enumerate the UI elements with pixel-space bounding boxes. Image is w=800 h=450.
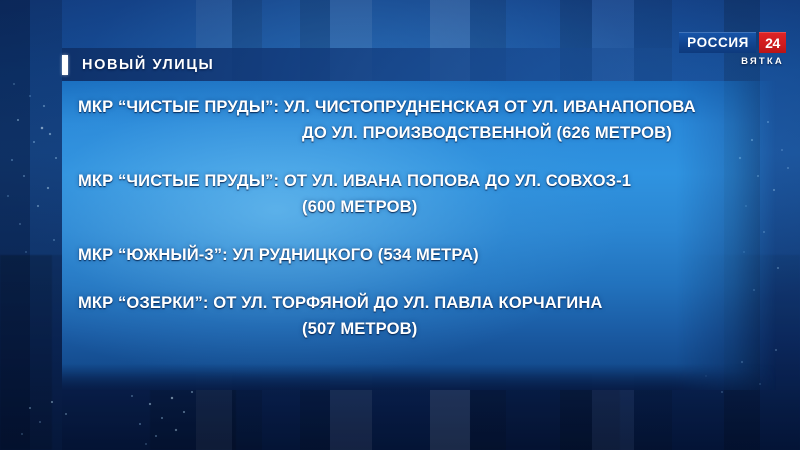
street-entry-line: МКР “ЮЖНЫЙ-3”: УЛ РУДНИЦКОГО (534 МЕТРА) (78, 242, 758, 268)
list-item: МКР “ЮЖНЫЙ-3”: УЛ РУДНИЦКОГО (534 МЕТРА) (78, 242, 758, 268)
list-item: МКР “ОЗЕРКИ”: ОТ УЛ. ТОРФЯНОЙ ДО УЛ. ПАВ… (78, 290, 758, 342)
panel-header: НОВЫЙ УЛИЦЫ (62, 48, 214, 81)
street-entry-line: МКР “ЧИСТЫЕ ПРУДЫ”: ОТ УЛ. ИВАНА ПОПОВА … (78, 168, 758, 194)
street-entry-line: (600 МЕТРОВ) (78, 194, 758, 220)
channel-region-label: ВЯТКА (741, 56, 784, 67)
street-entry-line: ДО УЛ. ПРОИЗВОДСТВЕННОЙ (626 МЕТРОВ) (78, 120, 758, 146)
list-item: МКР “ЧИСТЫЕ ПРУДЫ”: ОТ УЛ. ИВАНА ПОПОВА … (78, 168, 758, 220)
channel-number-label: 24 (765, 36, 780, 50)
panel-bottom-fade (62, 364, 776, 390)
channel-logo-row: РОССИЯ 24 (679, 32, 786, 53)
street-entry-line: (507 МЕТРОВ) (78, 316, 758, 342)
channel-number-box: 24 (759, 32, 786, 53)
street-list: МКР “ЧИСТЫЕ ПРУДЫ”: УЛ. ЧИСТОПРУДНЕНСКАЯ… (78, 94, 758, 342)
channel-name-box: РОССИЯ (679, 32, 756, 53)
street-entry-line: МКР “ЧИСТЫЕ ПРУДЫ”: УЛ. ЧИСТОПРУДНЕНСКАЯ… (78, 94, 758, 120)
information-panel: НОВЫЙ УЛИЦЫ МКР “ЧИСТЫЕ ПРУДЫ”: УЛ. ЧИСТ… (62, 48, 776, 390)
broadcast-screen: НОВЫЙ УЛИЦЫ МКР “ЧИСТЫЕ ПРУДЫ”: УЛ. ЧИСТ… (0, 0, 800, 450)
page-title: НОВЫЙ УЛИЦЫ (82, 57, 214, 73)
header-accent-bar-icon (62, 55, 68, 75)
street-entry-line: МКР “ОЗЕРКИ”: ОТ УЛ. ТОРФЯНОЙ ДО УЛ. ПАВ… (78, 290, 758, 316)
list-item: МКР “ЧИСТЫЕ ПРУДЫ”: УЛ. ЧИСТОПРУДНЕНСКАЯ… (78, 94, 758, 146)
channel-logo: РОССИЯ 24 ВЯТКА (679, 32, 786, 67)
channel-name-label: РОССИЯ (687, 36, 749, 50)
